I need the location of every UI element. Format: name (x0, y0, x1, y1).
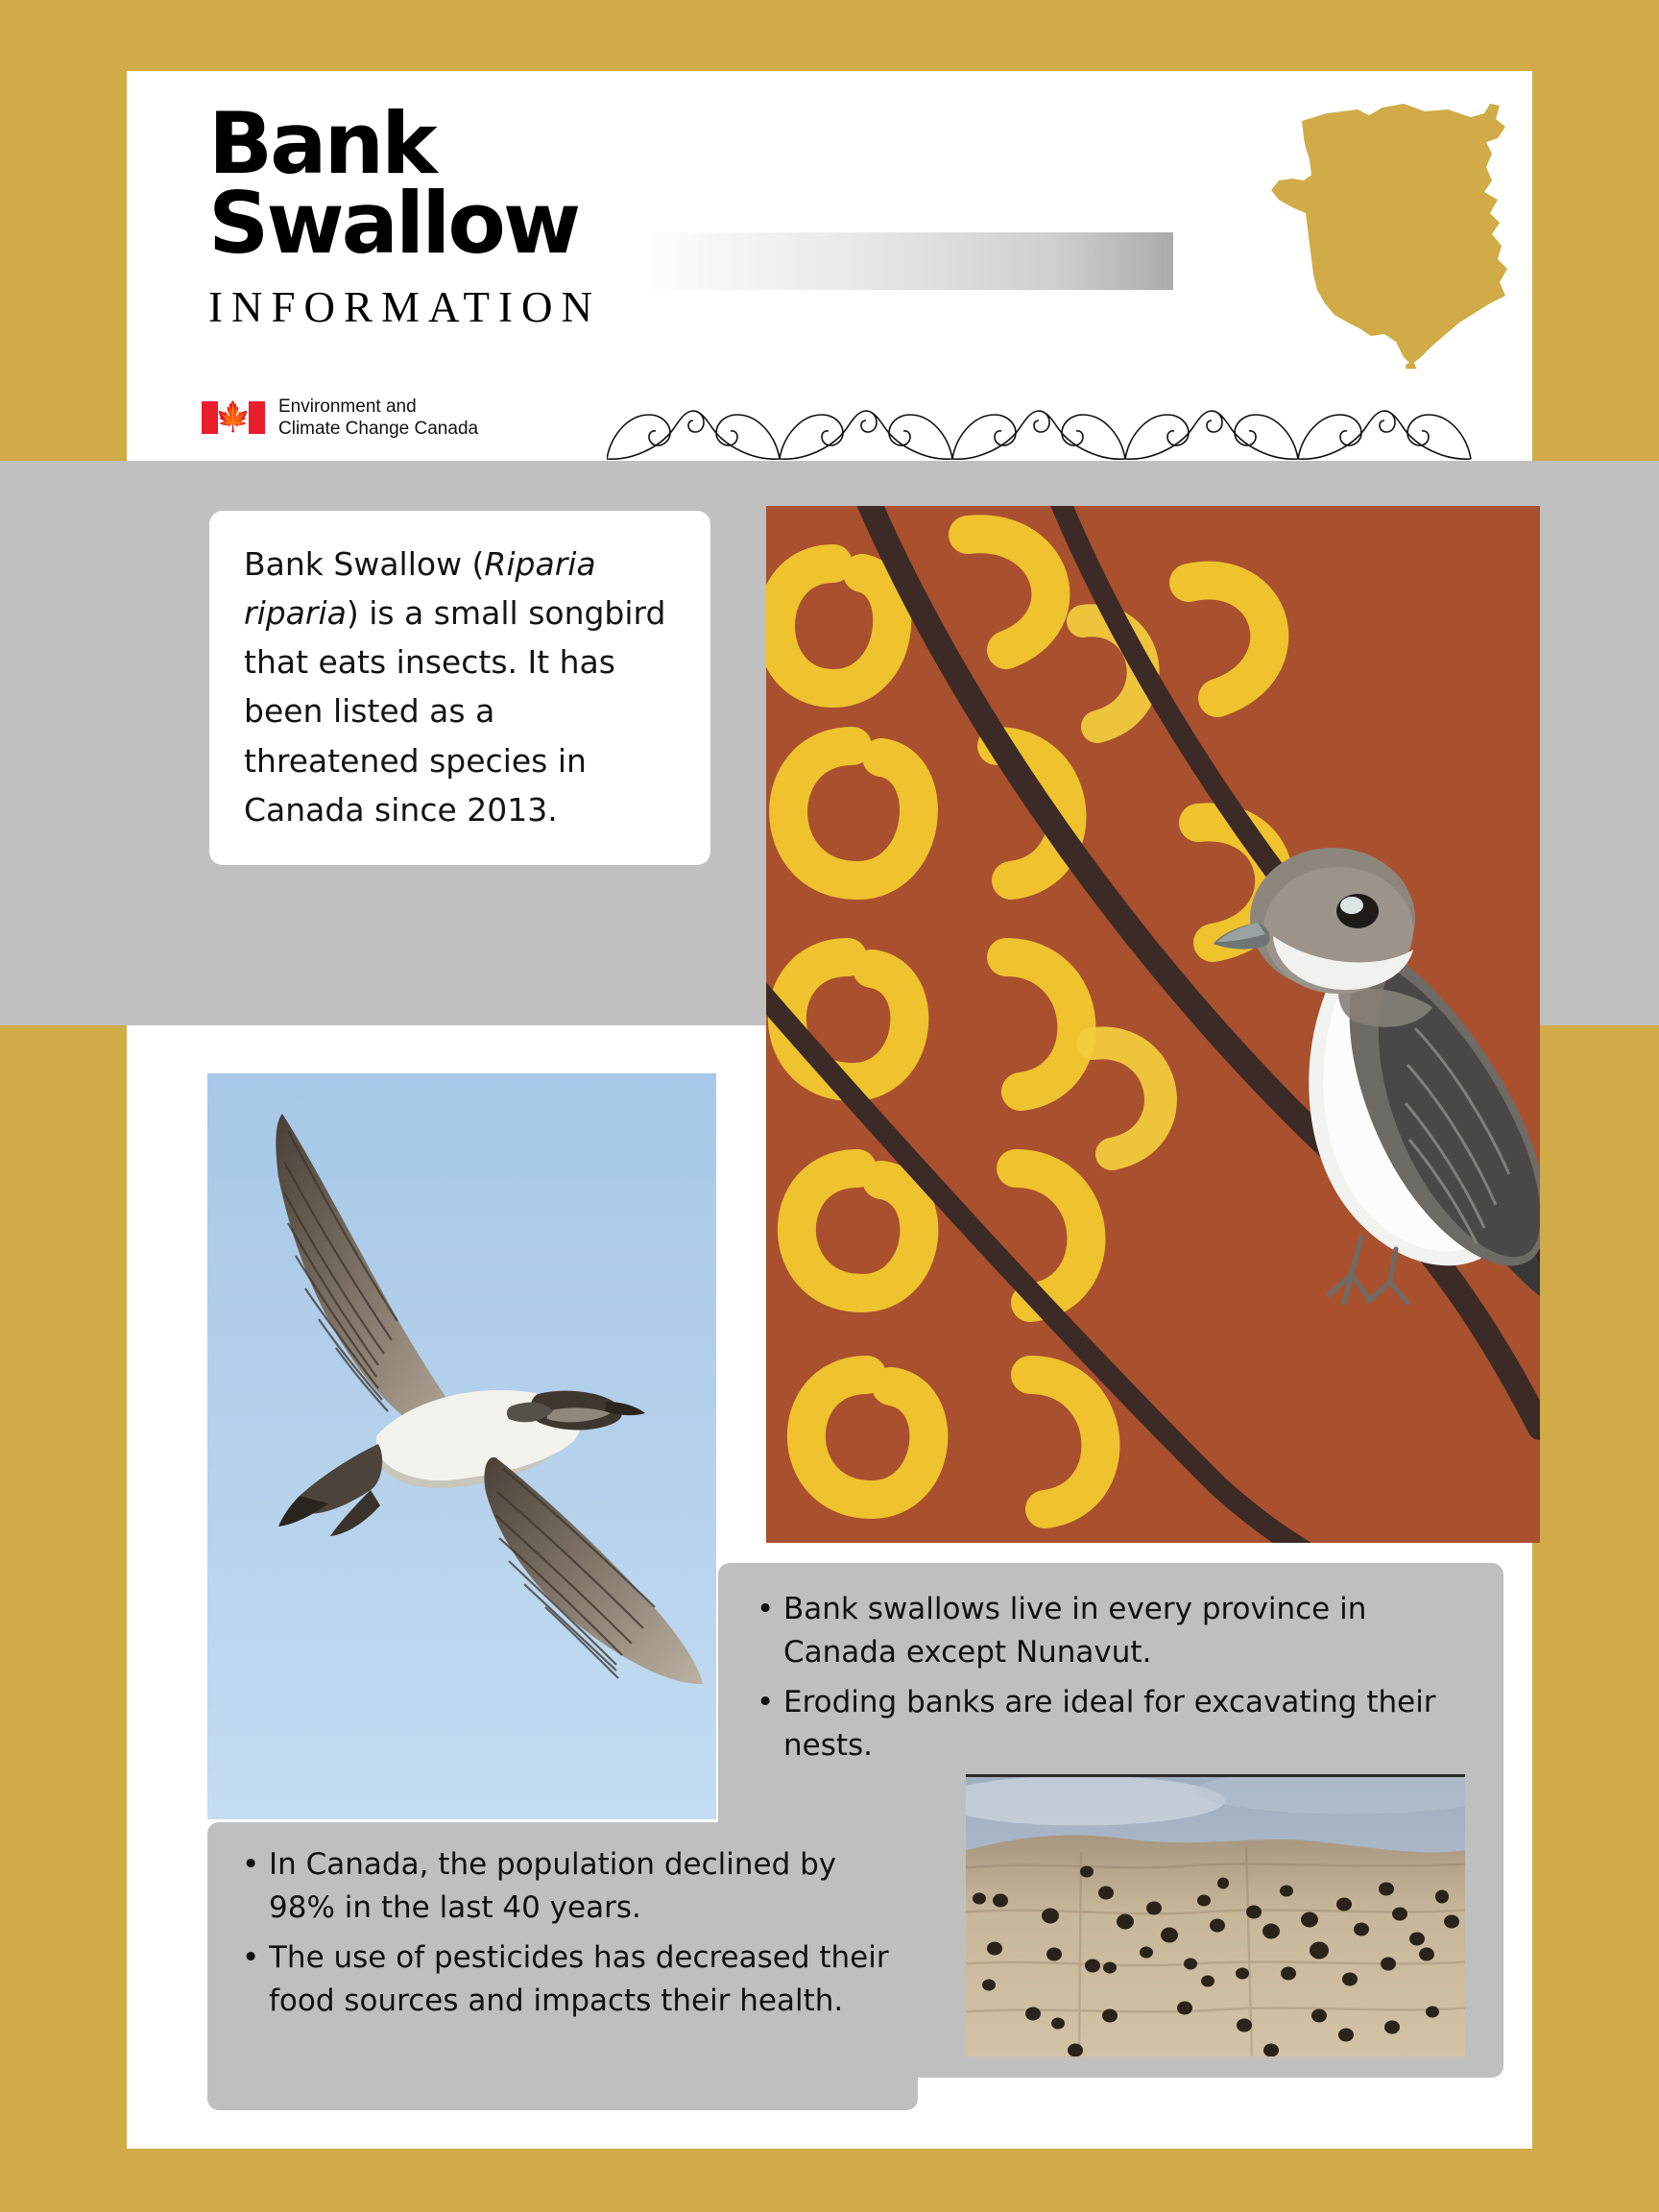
eccc-line-2: Climate Change Canada (278, 418, 478, 440)
bank-swallow-in-flight-photo (207, 1073, 716, 1819)
grey-gradient-bar (636, 232, 1173, 290)
eccc-logo-text: Environment and Climate Change Canada (278, 396, 478, 440)
list-item-text: Eroding banks are ideal for excavating t… (783, 1685, 1436, 1763)
canada-flag-icon: 🍁 (202, 401, 265, 434)
bullet-icon: • (242, 1843, 259, 1887)
decorative-swirl-border-icon (607, 397, 1528, 461)
facts-box-left: • In Canada, the population declined by … (207, 1822, 918, 2110)
page-subtitle: INFORMATION (208, 282, 601, 332)
intro-paragraph: Bank Swallow (Riparia riparia) is a smal… (244, 540, 676, 834)
eccc-line-1: Environment and (278, 396, 478, 418)
list-item: • Bank swallows live in every province i… (751, 1588, 1471, 1675)
canada-map-silhouette-icon (1269, 100, 1519, 369)
facts-left-list: • In Canada, the population declined by … (236, 1843, 889, 2023)
bullet-icon: • (242, 1936, 259, 1980)
title-line-2: Swallow (208, 184, 601, 264)
maple-leaf-icon: 🍁 (215, 403, 251, 432)
list-item-text: The use of pesticides has decreased thei… (269, 1940, 889, 2018)
list-item: • Eroding banks are ideal for excavating… (751, 1681, 1471, 1768)
intro-callout-box: Bank Swallow (Riparia riparia) is a smal… (209, 511, 710, 865)
title-block: Bank Swallow INFORMATION (208, 105, 601, 332)
poster-root: Bank Swallow INFORMATION 🍁 Environment a… (0, 0, 1659, 2212)
title-line-1: Bank (208, 105, 601, 184)
list-item-text: Bank swallows live in every province in … (783, 1592, 1366, 1670)
facts-right-list: • Bank swallows live in every province i… (751, 1588, 1471, 1767)
list-item-text: In Canada, the population declined by 98… (269, 1847, 836, 1925)
bullet-icon: • (757, 1588, 774, 1631)
eccc-logo: 🍁 Environment and Climate Change Canada (202, 396, 478, 440)
bullet-icon: • (757, 1681, 774, 1724)
intro-text-before: Bank Swallow ( (244, 545, 484, 583)
poster-header: Bank Swallow INFORMATION 🍁 Environment a… (127, 71, 1532, 461)
list-item: • In Canada, the population declined by … (236, 1843, 889, 1931)
bank-swallow-painting (766, 506, 1540, 1543)
nesting-bank-photo (966, 1774, 1465, 2056)
list-item: • The use of pesticides has decreased th… (236, 1936, 889, 2024)
